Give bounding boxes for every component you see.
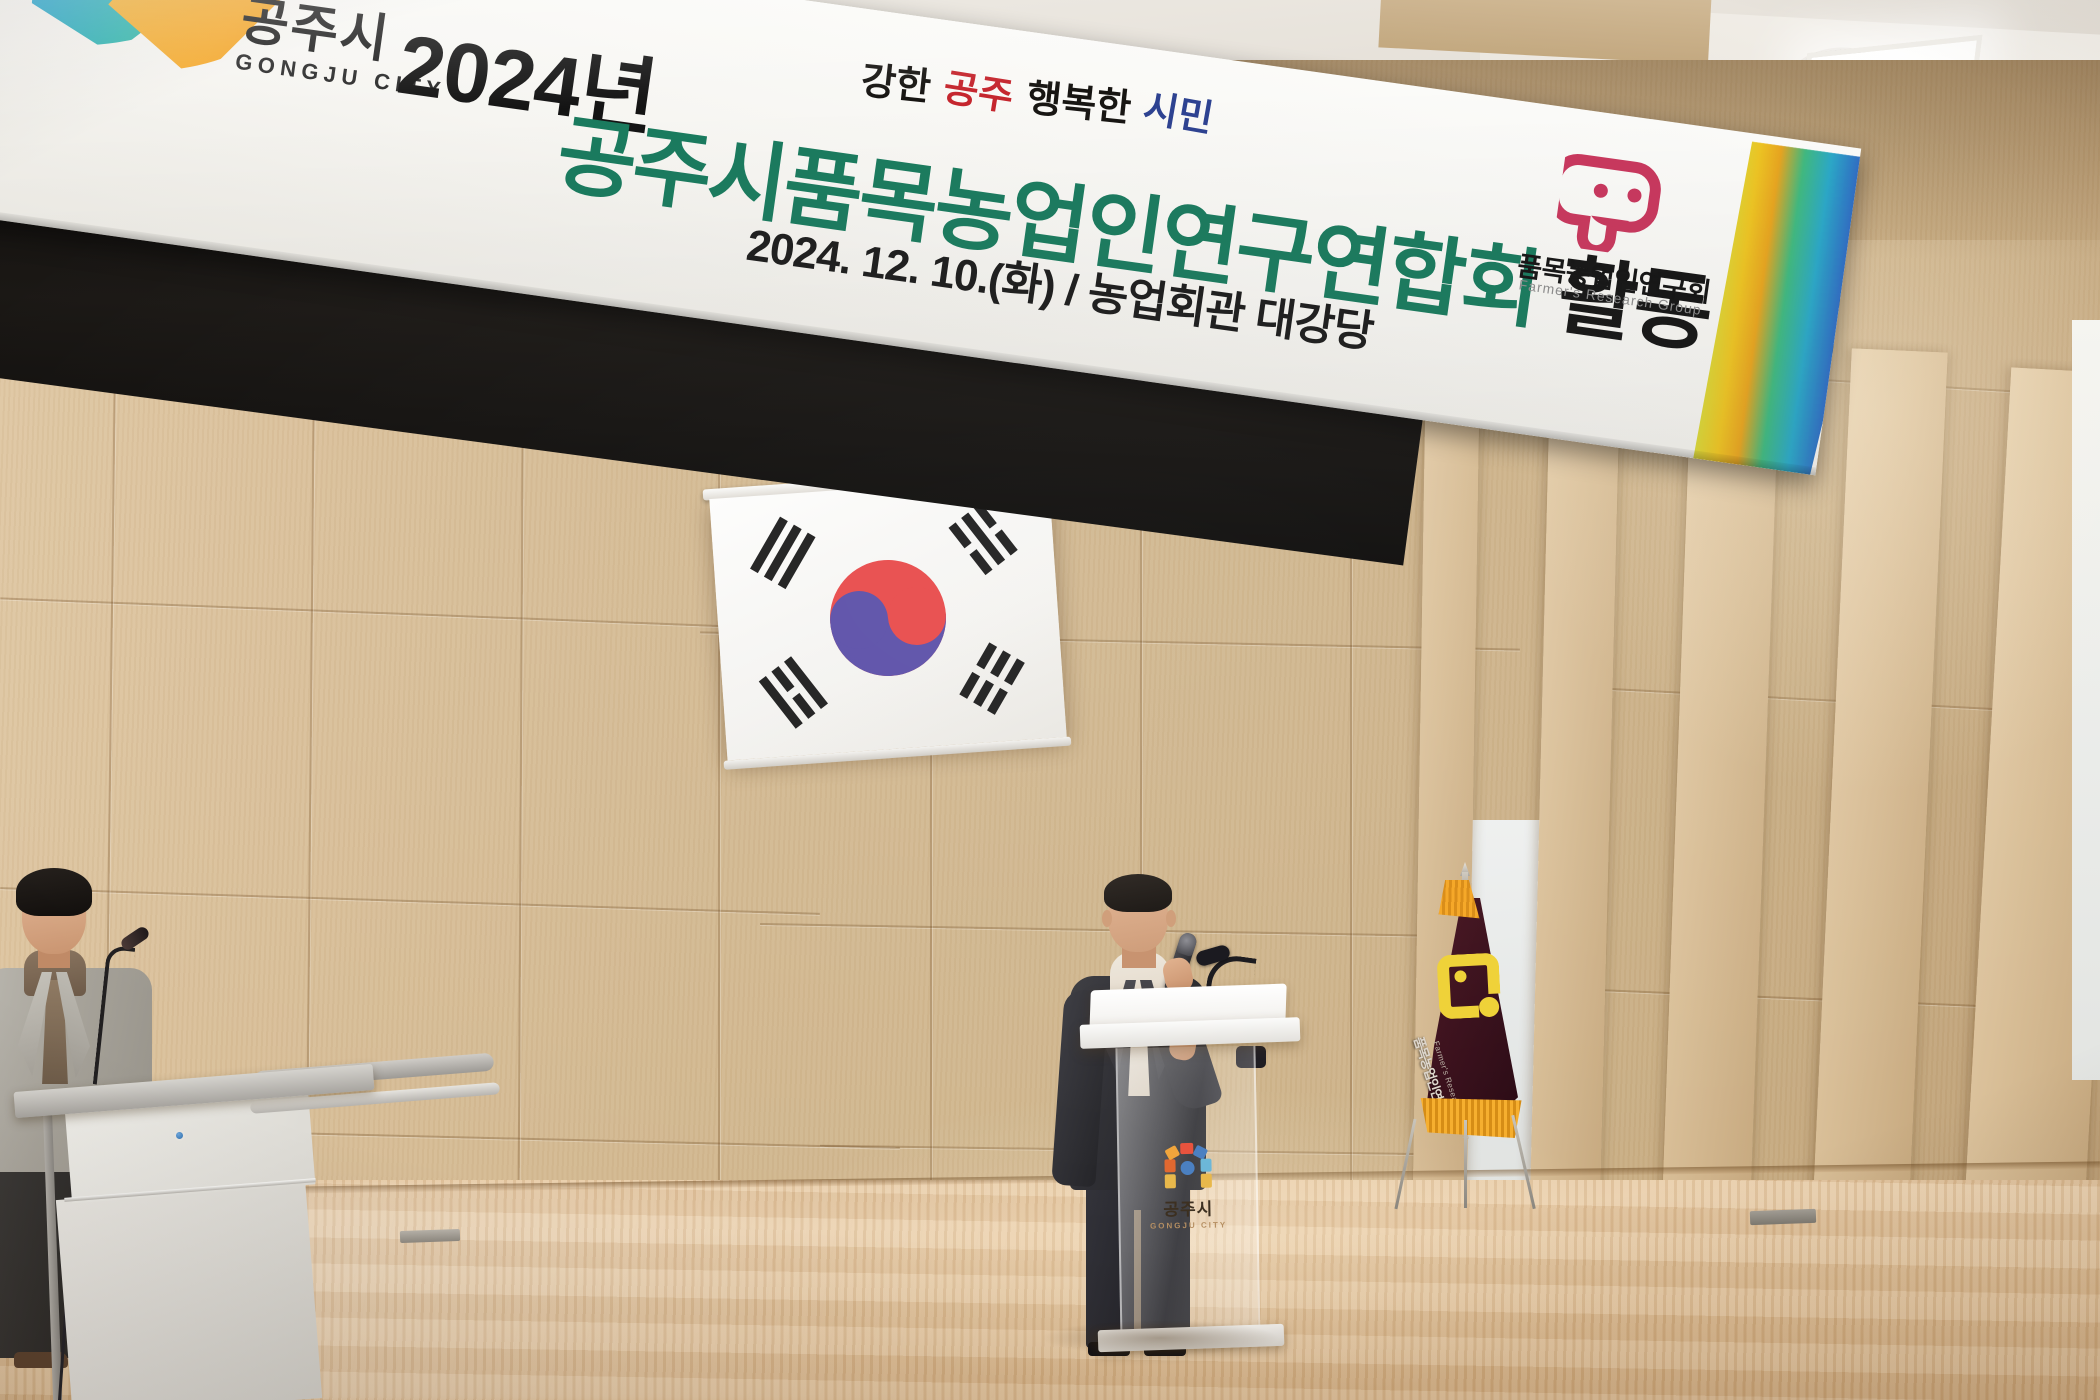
podium-gongju-city-logo: 공주시 GONGJU CITY <box>1145 1144 1231 1237</box>
podium-logo-korean: 공주시 <box>1146 1194 1230 1220</box>
flag-field <box>709 475 1066 760</box>
floor-vent-grille <box>1750 1209 1816 1225</box>
podium-logo-english: GONGJU CITY <box>1147 1220 1231 1230</box>
floor-vent-grille <box>400 1229 460 1243</box>
trigram-ri-icon <box>758 656 828 729</box>
trigram-gon-icon <box>959 642 1025 715</box>
gongju-arch-emblem-icon <box>1156 1144 1219 1191</box>
lectern-indicator-icon <box>174 1130 185 1141</box>
flag-fringe-bottom <box>1414 1098 1526 1138</box>
left-lectern <box>14 1078 374 1400</box>
slogan-part-4: 시민 <box>1140 77 1218 143</box>
taeguk-symbol-icon <box>826 556 950 680</box>
flag-fringe-top <box>1428 880 1494 920</box>
slogan-part-1: 강한 <box>859 49 934 111</box>
banner-farmers-research-group-logo: 품목농업인연구회 Farmer's Research Group <box>1504 142 1836 431</box>
speaker-hair <box>1104 874 1172 912</box>
podium-floor-shadow <box>1040 1320 1280 1356</box>
moderator-hair <box>16 868 92 916</box>
floor-reflection <box>250 1185 1550 1400</box>
slogan-part-3: 행복한 <box>1024 67 1134 133</box>
stage-photo-scene: 품목농업인연구회 Farmer's Research Group <box>0 0 2100 1400</box>
banner-gongju-city-logo: 공주시 GONGJU CITY <box>32 0 346 111</box>
flag-stand-leg <box>1464 1120 1467 1208</box>
ceremonial-flag: 품목농업인연구회 Farmer's Research Group <box>1390 862 1540 1162</box>
slogan-part-2: 공주 <box>940 56 1018 121</box>
korean-flag <box>709 475 1066 760</box>
banner-slogan: 강한 공주 행복한 시민 <box>859 49 1217 141</box>
trigram-geon-icon <box>750 517 816 590</box>
wall-edge-light <box>2072 320 2100 1080</box>
farmers-research-group-mark-icon <box>1553 150 1677 261</box>
farmers-research-group-emblem-icon <box>1436 952 1501 1019</box>
speaker-podium: 공주시 GONGJU CITY <box>1102 1055 1278 1345</box>
trigram-gam-icon <box>948 503 1018 576</box>
